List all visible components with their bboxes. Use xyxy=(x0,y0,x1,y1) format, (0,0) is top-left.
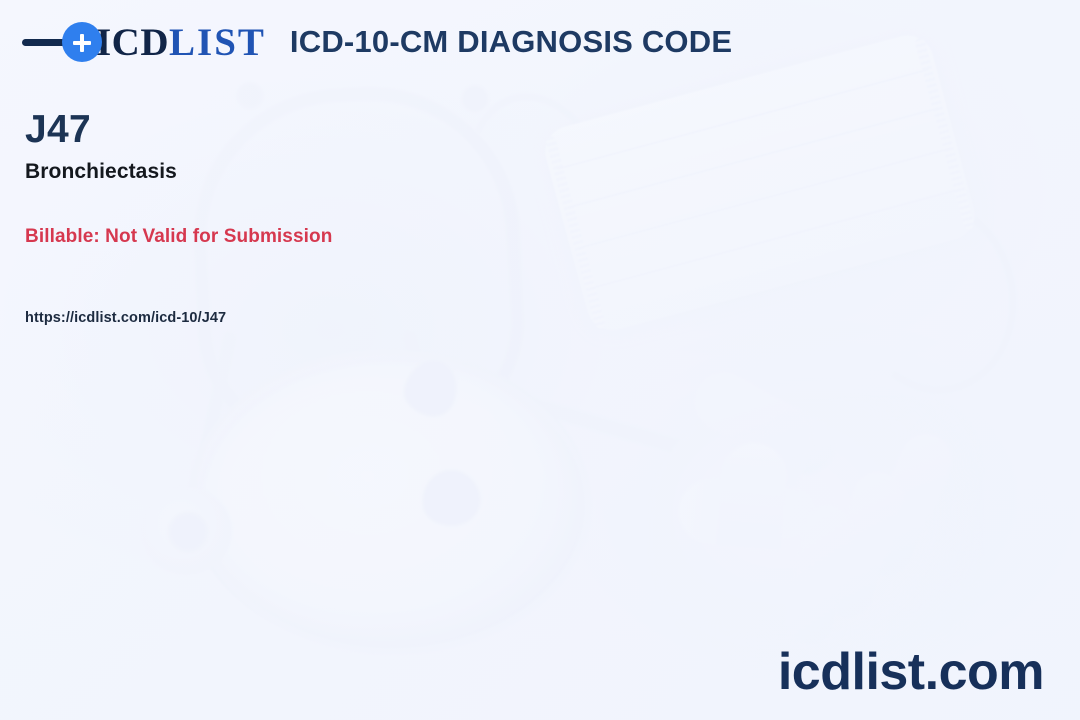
plus-circle-icon xyxy=(62,22,102,62)
icd-code-value: J47 xyxy=(25,110,332,151)
code-info-block: J47 Bronchiectasis Billable: Not Valid f… xyxy=(25,110,332,326)
card-content: ICDLIST ICD-10-CM DIAGNOSIS CODE J47 Bro… xyxy=(0,0,1080,720)
plus-vertical-bar xyxy=(80,34,84,52)
icd-code-card: ICDLIST ICD-10-CM DIAGNOSIS CODE J47 Bro… xyxy=(0,0,1080,720)
icd-code-description: Bronchiectasis xyxy=(25,160,332,184)
icdlist-logo[interactable]: ICDLIST xyxy=(22,22,266,62)
code-url-link[interactable]: https://icdlist.com/icd-10/J47 xyxy=(25,310,332,326)
logo-word-icd: ICD xyxy=(96,21,169,64)
logo-word-list: LIST xyxy=(169,21,266,64)
logo-wordmark: ICDLIST xyxy=(96,23,266,62)
billable-status-text: Billable: Not Valid for Submission xyxy=(25,226,332,248)
header: ICDLIST ICD-10-CM DIAGNOSIS CODE xyxy=(22,22,732,62)
footer-brand: icdlist.com xyxy=(778,646,1044,698)
dash-icon xyxy=(22,39,66,46)
page-title: ICD-10-CM DIAGNOSIS CODE xyxy=(290,24,732,60)
